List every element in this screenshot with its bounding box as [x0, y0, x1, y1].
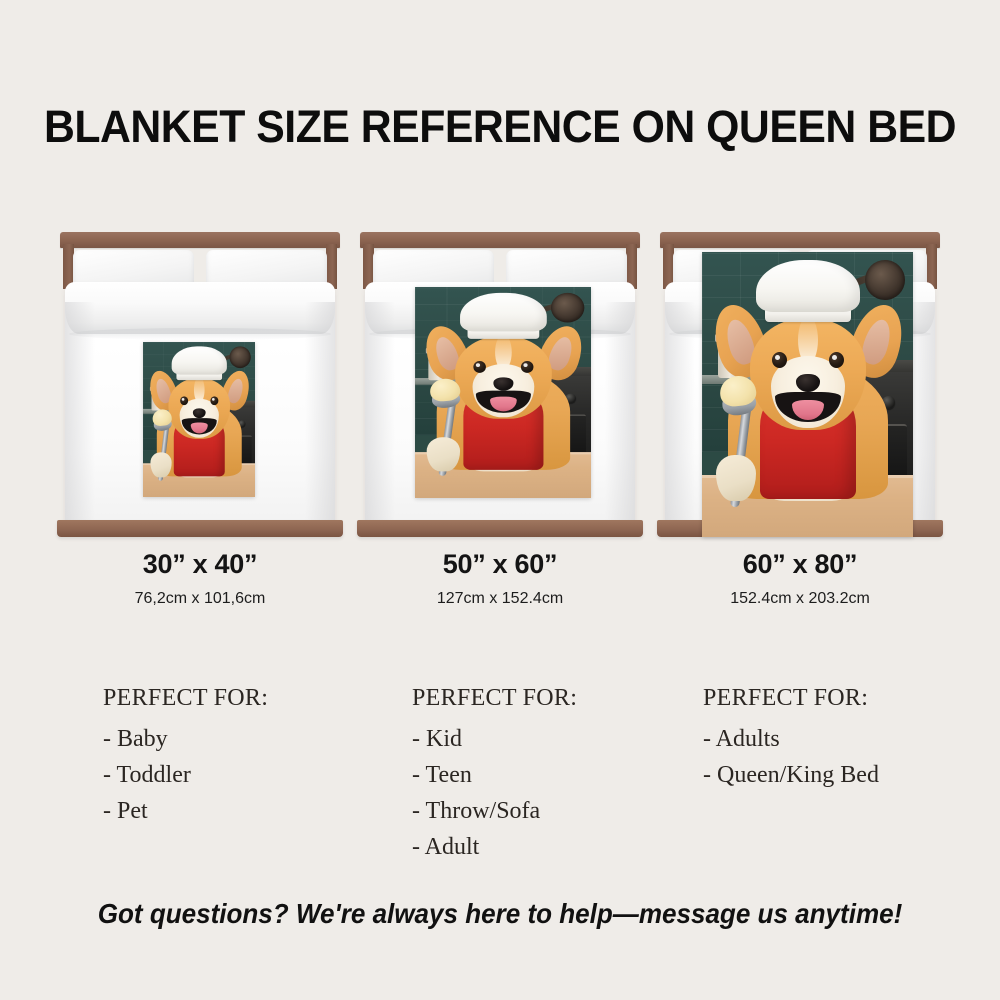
perfect-for-item: - Toddler: [103, 757, 268, 793]
perfect-for-item: - Queen/King Bed: [703, 757, 879, 793]
corgi-eye-left: [473, 361, 486, 373]
duvet-shade-right: [305, 302, 335, 525]
perfect-for-item: - Throw/Sofa: [412, 793, 577, 829]
queen-bed-illustration: [655, 232, 945, 537]
blanket-artwork-small[interactable]: [143, 342, 255, 497]
perfect-for-item: - Kid: [412, 721, 577, 757]
footboard-rail: [57, 520, 343, 537]
perfect-for-heading: PERFECT FOR:: [412, 685, 577, 712]
chef-hat-puff: [756, 260, 860, 312]
corgi-eye-right: [210, 396, 218, 405]
size-label-cm: 76,2cm x 101,6cm: [50, 590, 350, 608]
perfect-for-block-large: PERFECT FOR: - Adults- Queen/King Bed: [703, 685, 879, 793]
duvet-shade-left: [65, 302, 95, 525]
corgi-head: [750, 318, 866, 430]
corgi-eye-right: [521, 361, 534, 373]
corgi-head: [455, 336, 552, 419]
corgi-eye-right: [829, 352, 844, 368]
corgi-nose: [796, 374, 820, 392]
corgi-chef-scene: [702, 252, 913, 537]
corgi-chef-scene: [143, 342, 255, 497]
perfect-for-item: - Teen: [412, 757, 577, 793]
corgi-chef-scene: [415, 287, 591, 498]
corgi-paw: [427, 437, 460, 471]
perfect-for-list: - Adults- Queen/King Bed: [703, 721, 879, 793]
product-size-reference-page: BLANKET SIZE REFERENCE ON QUEEN BED: [0, 0, 1000, 1000]
corgi-head: [168, 378, 230, 439]
perfect-for-heading: PERFECT FOR:: [103, 685, 268, 712]
support-tagline: Got questions? We're always here to help…: [35, 898, 965, 930]
perfect-for-block-small: PERFECT FOR: - Baby- Toddler- Pet: [103, 685, 268, 829]
perfect-for-list: - Baby- Toddler- Pet: [103, 721, 268, 829]
headboard-rail: [360, 232, 640, 248]
size-label-inches: 30” x 40”: [50, 549, 350, 580]
size-comparison-row: 30” x 40” 76,2cm x 101,6cm: [0, 232, 1000, 652]
perfect-for-heading: PERFECT FOR:: [703, 685, 879, 712]
chef-hat-puff: [460, 293, 547, 332]
perfect-for-block-medium: PERFECT FOR: - Kid- Teen- Throw/Sofa- Ad…: [412, 685, 577, 865]
headboard-rail: [60, 232, 340, 248]
blanket-artwork-medium[interactable]: [415, 287, 591, 498]
perfect-for-item: - Baby: [103, 721, 268, 757]
queen-bed-illustration: [355, 232, 645, 537]
queen-bed-illustration: [55, 232, 345, 537]
perfect-for-list: - Kid- Teen- Throw/Sofa- Adult: [412, 721, 577, 865]
chef-hat-puff: [171, 346, 226, 374]
corgi-nose: [493, 377, 513, 390]
duvet-fold: [65, 282, 335, 334]
size-label-inches: 50” x 60”: [350, 549, 650, 580]
corgi-nose: [193, 408, 206, 418]
headboard-rail: [660, 232, 940, 248]
corgi-dog: [415, 287, 591, 498]
corgi-paw: [716, 455, 756, 501]
size-option-large[interactable]: 60” x 80” 152.4cm x 203.2cm: [650, 232, 950, 652]
corgi-paw: [150, 452, 171, 477]
size-option-medium[interactable]: 50” x 60” 127cm x 152.4cm: [350, 232, 650, 652]
size-label-inches: 60” x 80”: [650, 549, 950, 580]
duvet-shade-left: [665, 302, 695, 525]
size-label-cm: 152.4cm x 203.2cm: [650, 590, 950, 608]
corgi-eye-left: [772, 352, 787, 368]
corgi-dog: [702, 252, 913, 537]
duvet-shade-right: [605, 302, 635, 525]
page-title: BLANKET SIZE REFERENCE ON QUEEN BED: [25, 101, 975, 153]
blanket-artwork-large[interactable]: [702, 252, 913, 537]
corgi-dog: [143, 342, 255, 497]
corgi-eye-left: [180, 396, 188, 405]
perfect-for-item: - Adult: [412, 829, 577, 865]
footboard-rail: [357, 520, 643, 537]
perfect-for-item: - Pet: [103, 793, 268, 829]
size-option-small[interactable]: 30” x 40” 76,2cm x 101,6cm: [50, 232, 350, 652]
size-label-cm: 127cm x 152.4cm: [350, 590, 650, 608]
perfect-for-item: - Adults: [703, 721, 879, 757]
duvet-shade-left: [365, 302, 395, 525]
